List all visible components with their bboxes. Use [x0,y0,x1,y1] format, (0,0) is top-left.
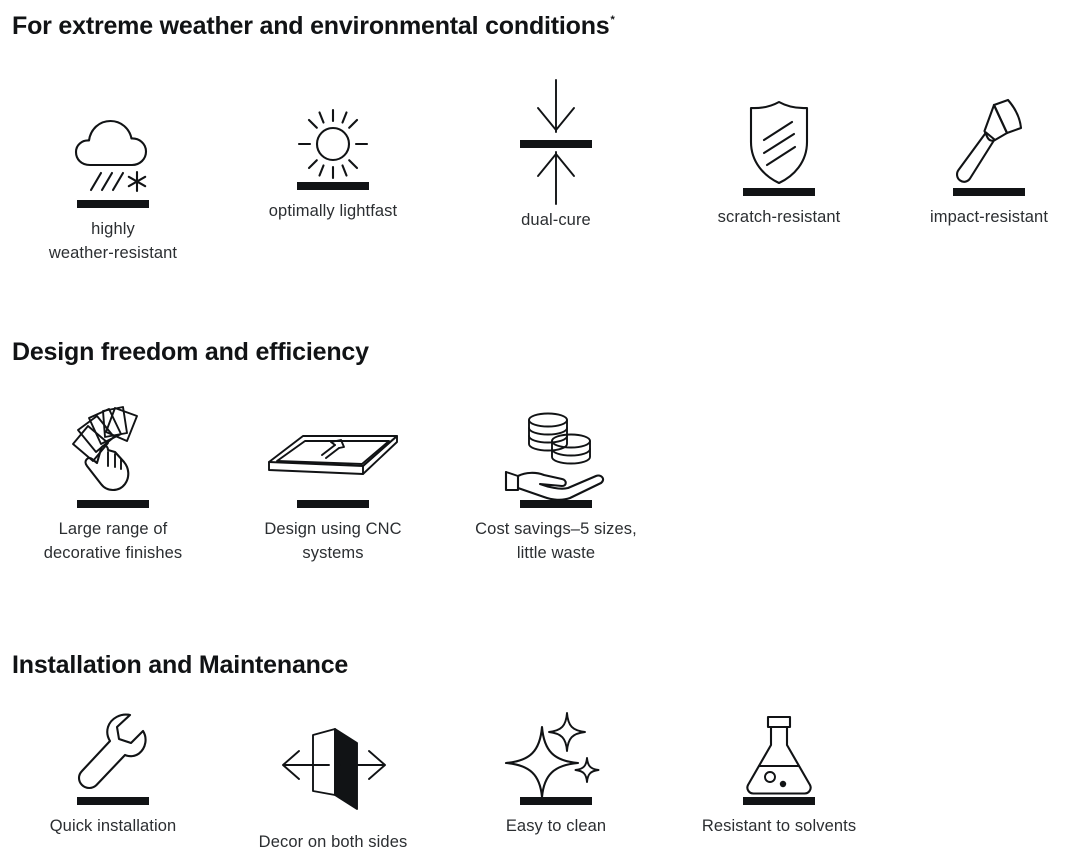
feature-label: Design using CNC systems [233,517,433,566]
feature-label: highly weather-resistant [13,217,213,266]
accent-bar [520,140,592,148]
accent-bar [297,500,369,508]
feature-item-quick-installation: Quick installation [13,705,213,838]
dual-cure-arrows-icon [456,78,656,140]
section-title: Installation and Maintenance [12,651,348,680]
section-title-superscript: * [610,14,614,26]
section-title-text: Installation and Maintenance [12,651,348,679]
sparkles-icon [456,705,656,797]
feature-label: dual-cure [456,208,656,232]
feature-item-cnc-design: Design using CNC systems [233,400,433,566]
section-title-text: For extreme weather and environmental co… [12,12,609,40]
feature-item-weather-resistant: highly weather-resistant [13,90,213,266]
feature-item-impact-resistant: impact-resistant [889,90,1080,229]
section-title-text: Design freedom and efficiency [12,338,369,366]
accent-bar [743,797,815,805]
accent-bar [953,188,1025,196]
feature-item-resistant-to-solvents: Resistant to solvents [679,705,879,838]
hand-swatch-fan-icon [13,400,213,500]
feature-label: Cost savings–5 sizes, little waste [456,517,656,566]
accent-bar [520,500,592,508]
cnc-panel-icon [233,400,433,500]
hammer-icon [889,90,1080,188]
section-title: Design freedom and efficiency [12,338,369,367]
accent-bar [520,797,592,805]
feature-label: Easy to clean [456,814,656,838]
accent-bar [77,500,149,508]
feature-item-decorative-finishes: Large range of decorative finishes [13,400,213,566]
accent-bar [743,188,815,196]
feature-item-cost-savings: Cost savings–5 sizes, little waste [456,400,656,566]
feature-label: Resistant to solvents [679,814,879,838]
accent-bar [77,200,149,208]
feature-overview-page: For extreme weather and environmental co… [0,0,1080,850]
flask-icon [679,705,879,797]
accent-bar [77,797,149,805]
feature-label: Large range of decorative finishes [13,517,213,566]
section-title: For extreme weather and environmental co… [12,12,614,41]
feature-label: scratch-resistant [679,205,879,229]
cloud-rain-snow-icon [13,90,213,200]
feature-label: optimally lightfast [233,199,433,223]
feature-label: Decor on both sides [233,830,433,854]
sun-icon [233,90,433,182]
feature-label: impact-resistant [889,205,1080,229]
feature-item-lightfast: optimally lightfast [233,90,433,223]
accent-bar [297,182,369,190]
wrench-icon [13,705,213,797]
feature-label: Quick installation [13,814,213,838]
feature-item-scratch-resistant: scratch-resistant [679,90,879,229]
feature-item-dual-cure: dual-cure [456,78,656,232]
shield-scratch-icon [679,90,879,188]
panel-both-sides-icon [233,705,433,821]
dual-cure-lower-arrow-icon [456,148,656,206]
feature-item-decor-both-sides: Decor on both sides [233,705,433,854]
feature-item-easy-to-clean: Easy to clean [456,705,656,838]
coins-on-hand-icon [456,400,656,500]
